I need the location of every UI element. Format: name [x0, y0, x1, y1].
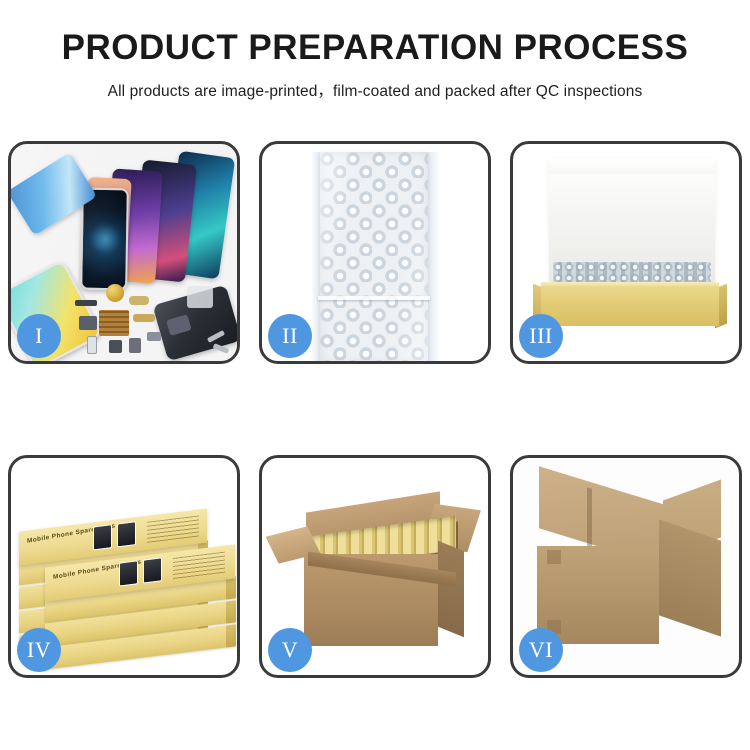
step-badge-3: III	[519, 314, 563, 358]
inner-box-lid-top	[549, 158, 715, 174]
step-panel-3: III	[510, 141, 742, 364]
bubble-wrap-seam	[318, 296, 430, 300]
step-panel-2: II	[259, 141, 491, 364]
step-badge-6: VI	[519, 628, 563, 672]
part-flex-gold-icon	[129, 296, 149, 305]
box-window-left	[93, 524, 112, 550]
box-window-left	[119, 560, 138, 586]
carton-tape-upper	[547, 550, 561, 564]
step-panel-5: V	[259, 455, 491, 678]
process-steps-grid: I II III	[8, 141, 742, 678]
step-panel-4: Mobile Phone Spare Parts Mobile Phone Sp…	[8, 455, 240, 678]
box-spec-lines	[147, 515, 199, 543]
part-flex-cable-icon	[133, 314, 155, 322]
step-badge-2: II	[268, 314, 312, 358]
box-spec-lines	[173, 552, 225, 580]
part-chip-grid-icon	[99, 310, 129, 336]
box-window-right	[143, 557, 162, 583]
step-panel-1: I	[8, 141, 240, 364]
bubble-wrap-pouch-icon	[320, 152, 428, 361]
page-title: PRODUCT PREPARATION PROCESS	[0, 28, 750, 67]
step-badge-5: V	[268, 628, 312, 672]
inner-box-base-icon	[541, 286, 719, 326]
sealed-carton-side	[659, 519, 721, 636]
phone-black-screen-icon	[80, 188, 129, 291]
box-window-right	[117, 521, 136, 547]
sealed-carton-seam	[587, 487, 592, 551]
carton-side-panel	[438, 541, 464, 638]
product-preparation-page: PRODUCT PREPARATION PROCESS All products…	[0, 0, 750, 750]
part-camera-icon	[109, 340, 122, 353]
part-speaker-icon	[147, 332, 161, 341]
part-vibrator-icon	[106, 284, 124, 302]
part-bracket-icon	[187, 286, 213, 308]
step-badge-1: I	[17, 314, 61, 358]
part-sim-tray-icon	[87, 336, 97, 354]
part-strip-icon	[75, 300, 97, 306]
part-module-icon	[79, 316, 97, 330]
page-header: PRODUCT PREPARATION PROCESS All products…	[0, 0, 750, 101]
part-connector-icon	[129, 338, 141, 353]
step-panel-6: VI	[510, 455, 742, 678]
step-badge-4: IV	[17, 628, 61, 672]
page-subtitle: All products are image-printed，film-coat…	[0, 79, 750, 101]
